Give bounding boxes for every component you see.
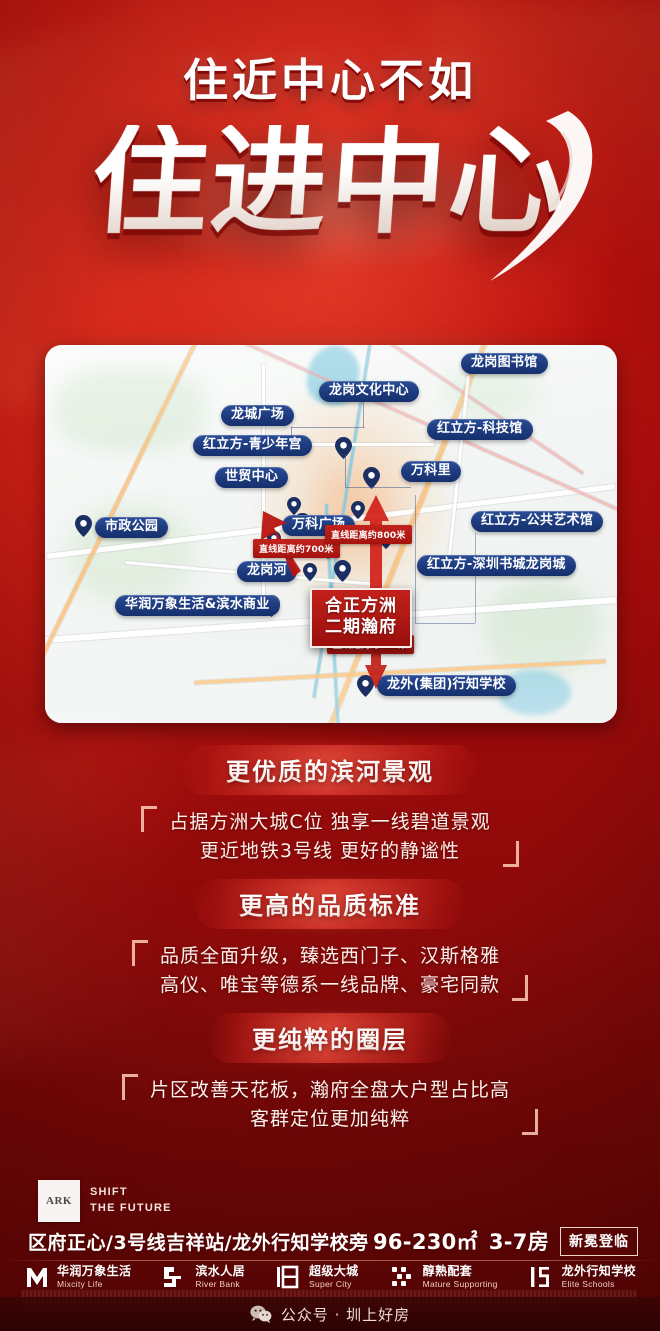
wechat-account-bar[interactable]: 公众号 · 圳上好房 xyxy=(0,1297,660,1331)
amenity-cn: 超级大城 xyxy=(309,1265,359,1279)
feature-line-1a: 占据方洲大城C位 独享一线碧道景观 xyxy=(169,808,490,837)
amenity-en: Mature Supporting xyxy=(423,1279,498,1289)
map-label-vanke-li[interactable]: 万科里 xyxy=(401,461,461,482)
leader-line xyxy=(345,455,346,487)
address-bar: 区府正心/3号线吉祥站/龙外行知学校旁 96-230㎡ 3-7房 新冕登临 xyxy=(0,1221,660,1261)
quote-bracket-left-icon xyxy=(132,940,148,966)
map-pin[interactable] xyxy=(363,467,380,489)
location-map-panel[interactable]: 龙岗图书馆 龙岗文化中心 龙城广场 红立方-科技馆 红立方-青少年宫 万科里 世… xyxy=(45,345,617,723)
feature-body-1: 占据方洲大城C位 独享一线碧道景观 更近地铁3号线 更好的静谧性 xyxy=(139,808,520,865)
map-label-longgang-culture-center[interactable]: 龙岗文化中心 xyxy=(319,381,419,402)
feature-body-3: 片区改善天花板，瀚府全盘大户型占比高 客群定位更加纯粹 xyxy=(120,1076,540,1133)
quote-bracket-right-icon xyxy=(512,975,528,1001)
quote-bracket-right-icon xyxy=(522,1109,538,1135)
amenity-label: 龙外行知学校 Elite Schools xyxy=(562,1265,636,1289)
project-name-line2: 二期瀚府 xyxy=(325,617,397,638)
map-pin[interactable] xyxy=(335,437,352,459)
amenity-cn: 龙外行知学校 xyxy=(562,1265,636,1279)
feature-title-pill: 更纯粹的圈层 xyxy=(210,1013,450,1063)
map-pin[interactable] xyxy=(334,560,351,582)
amenity-icon-row: 华润万象生活 Mixcity Life 滨水人居 River Bank xyxy=(0,1261,660,1293)
river-bank-logo-icon xyxy=(162,1264,188,1290)
feature-line-3b: 客群定位更加纯粹 xyxy=(150,1105,510,1134)
feature-line-1b: 更近地铁3号线 更好的静谧性 xyxy=(169,837,490,866)
map-pin[interactable] xyxy=(75,515,92,537)
amenity-item-mixcity-life: 华润万象生活 Mixcity Life xyxy=(24,1264,131,1290)
feature-title-1: 更优质的滨河景观 xyxy=(226,758,434,786)
features-section: 更优质的滨河景观 占据方洲大城C位 独享一线碧道景观 更近地铁3号线 更好的静谧… xyxy=(0,745,660,1147)
address-text: 区府正心/3号线吉祥站/龙外行知学校旁 xyxy=(28,1228,369,1255)
amenity-label: 超级大城 Super City xyxy=(309,1265,359,1289)
amenity-cn: 醇熟配套 xyxy=(423,1265,498,1279)
project-name-line1: 合正方洲 xyxy=(325,596,397,617)
amenity-en: Elite Schools xyxy=(562,1279,636,1289)
spec-group: 96-230㎡ 3-7房 新冕登临 xyxy=(373,1226,638,1256)
leader-line xyxy=(475,533,476,623)
map-label-crland-waterfront[interactable]: 华润万象生活&滨水商业 xyxy=(115,595,280,616)
map-label-redcube-public-art[interactable]: 红立方-公共艺术馆 xyxy=(471,511,603,532)
amenity-label: 华润万象生活 Mixcity Life xyxy=(57,1265,131,1289)
leader-line xyxy=(415,495,416,623)
map-label-longcheng-plaza[interactable]: 龙城广场 xyxy=(221,405,294,426)
mixcity-logo-icon xyxy=(24,1264,50,1290)
brand-tagline-line2: THE FUTURE xyxy=(90,1201,172,1217)
developer-brand-block: ARK SHIFT THE FUTURE xyxy=(38,1180,172,1222)
amenity-en: Mixcity Life xyxy=(57,1279,131,1289)
wechat-icon xyxy=(250,1305,272,1324)
headline-top-text: 住近中心不如 xyxy=(0,44,660,109)
feature-line-2a: 品质全面升级，臻选西门子、汉斯格雅 xyxy=(160,942,500,971)
map-label-redcube-science[interactable]: 红立方-科技馆 xyxy=(427,419,533,440)
wechat-account-name: 公众号 · 圳上好房 xyxy=(281,1304,410,1325)
map-label-municipal-park[interactable]: 市政公园 xyxy=(95,517,168,538)
map-label-xingzhi-school[interactable]: 龙外(集团)行知学校 xyxy=(377,675,516,696)
poster-root: 住近中心不如 住进中心 xyxy=(0,0,660,1331)
map-label-longgang-library[interactable]: 龙岗图书馆 xyxy=(461,353,548,374)
mature-supporting-logo-icon xyxy=(390,1264,416,1290)
amenity-en: River Bank xyxy=(195,1279,245,1289)
amenity-label: 滨水人居 River Bank xyxy=(195,1265,245,1289)
spec-rooms: 3-7房 xyxy=(489,1226,549,1256)
feature-line-2b: 高仪、唯宝等德系一线品牌、豪宅同款 xyxy=(160,971,500,1000)
project-name-callout: 合正方洲 二期瀚府 xyxy=(310,588,412,648)
spec-area: 96-230㎡ xyxy=(373,1226,478,1256)
amenity-en: Super City xyxy=(309,1279,359,1289)
headline-main-text: 住进中心 xyxy=(88,125,572,241)
developer-logo-mark: ARK xyxy=(38,1180,80,1222)
leader-line xyxy=(415,623,475,624)
map-label-worldtrade-center[interactable]: 世贸中心 xyxy=(215,467,288,488)
quote-bracket-left-icon xyxy=(122,1074,138,1100)
headline-block: 住近中心不如 住进中心 xyxy=(0,44,660,285)
feature-block-3: 更纯粹的圈层 片区改善天花板，瀚府全盘大户型占比高 客群定位更加纯粹 xyxy=(0,1013,660,1133)
amenity-cn: 华润万象生活 xyxy=(57,1265,131,1279)
headline-main-wrap: 住进中心 xyxy=(0,125,660,285)
amenity-item-super-city: 超级大城 Super City xyxy=(276,1264,359,1290)
leader-line xyxy=(291,427,365,428)
amenity-item-river-bank: 滨水人居 River Bank xyxy=(162,1264,245,1290)
feature-block-1: 更优质的滨河景观 占据方洲大城C位 独享一线碧道景观 更近地铁3号线 更好的静谧… xyxy=(0,745,660,865)
feature-title-3: 更纯粹的圈层 xyxy=(252,1026,408,1054)
distance-chip-800m: 直线距离约800米 xyxy=(325,525,412,544)
brand-tagline-line1: SHIFT xyxy=(90,1185,172,1201)
feature-body-2: 品质全面升级，臻选西门子、汉斯格雅 高仪、唯宝等德系一线品牌、豪宅同款 xyxy=(130,942,530,999)
map-label-redcube-bookcity[interactable]: 红立方-深圳书城龙岗城 xyxy=(417,555,576,576)
quote-bracket-right-icon xyxy=(503,841,519,867)
status-badge: 新冕登临 xyxy=(560,1227,638,1256)
super-city-logo-icon xyxy=(276,1264,302,1290)
amenity-label: 醇熟配套 Mature Supporting xyxy=(423,1265,498,1289)
amenity-cn: 滨水人居 xyxy=(195,1265,245,1279)
elite-schools-logo-icon xyxy=(529,1264,555,1290)
leader-line xyxy=(345,487,411,488)
brand-tagline: SHIFT THE FUTURE xyxy=(90,1185,172,1217)
quote-bracket-left-icon xyxy=(141,806,157,832)
feature-title-2: 更高的品质标准 xyxy=(239,892,421,920)
feature-title-pill: 更优质的滨河景观 xyxy=(184,745,476,795)
feature-block-2: 更高的品质标准 品质全面升级，臻选西门子、汉斯格雅 高仪、唯宝等德系一线品牌、豪… xyxy=(0,879,660,999)
developer-logo-text: ARK xyxy=(46,1195,72,1207)
direction-arrow-up-icon xyxy=(363,495,389,595)
map-label-redcube-youth-palace[interactable]: 红立方-青少年宫 xyxy=(193,435,312,456)
amenity-item-mature-supporting: 醇熟配套 Mature Supporting xyxy=(390,1264,498,1290)
amenity-item-elite-schools: 龙外行知学校 Elite Schools xyxy=(529,1264,636,1290)
feature-title-pill: 更高的品质标准 xyxy=(197,879,463,929)
feature-line-3a: 片区改善天花板，瀚府全盘大户型占比高 xyxy=(150,1076,510,1105)
